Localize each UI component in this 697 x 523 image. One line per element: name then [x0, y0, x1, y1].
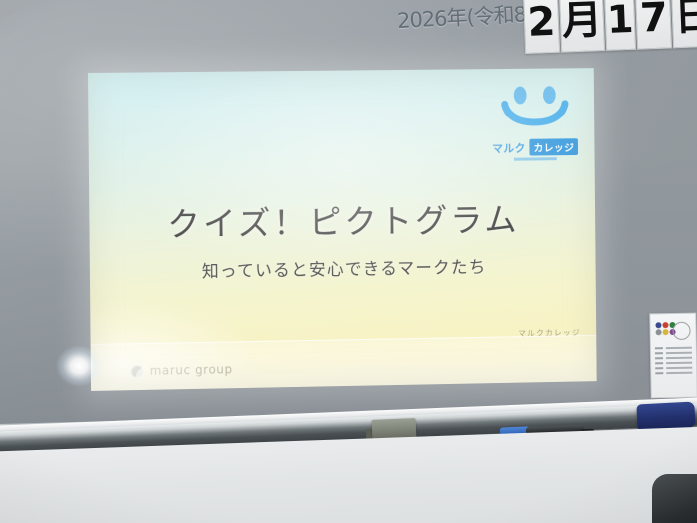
notice-text-lines	[655, 347, 693, 378]
blue-pouch	[636, 402, 695, 431]
logo-wordmark: マルク カレッジ	[487, 138, 582, 156]
logo-underbar	[514, 157, 557, 160]
logo-word-badge: カレッジ	[530, 138, 579, 155]
projected-slide: マルク カレッジ クイズ！ピクトグラム 知っていると安心できるマークたち マルク…	[88, 68, 597, 391]
maruc-group-brand: maruc group	[131, 362, 233, 378]
slide-title: クイズ！ピクトグラム	[89, 192, 595, 247]
date-card: 1	[604, 0, 637, 51]
smiley-face-icon	[487, 80, 583, 138]
magnetic-date-cards: 2 月 1 7 日 ( 火	[523, 0, 697, 54]
logo-word-primary: マルク	[492, 139, 526, 155]
maruc-college-logo: マルク カレッジ	[487, 80, 583, 161]
classroom-photo-scene: 2026年(令和8年) 2 月 1 7 日 ( 火 マルク カレッジ クイズ！ピ…	[0, 0, 697, 523]
date-card: 7	[635, 0, 672, 50]
brand-text: maruc group	[150, 362, 233, 378]
date-card: 2	[523, 0, 560, 54]
notice-circle-icon	[672, 322, 690, 340]
dark-foreground-object	[652, 474, 697, 523]
date-card: 月	[559, 0, 605, 53]
wall-notice-card	[649, 313, 697, 399]
maruc-circle-icon	[131, 364, 144, 377]
slide-subtitle: 知っていると安心できるマークたち	[90, 251, 596, 284]
date-card: 日	[671, 0, 697, 48]
